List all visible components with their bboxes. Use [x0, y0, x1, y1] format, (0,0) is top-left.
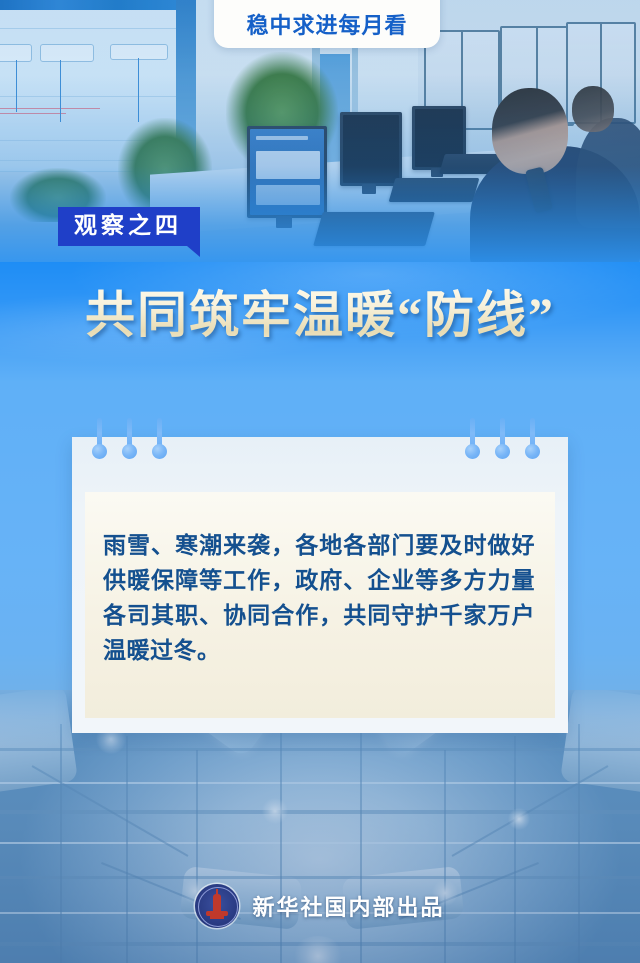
wall-display-header-bar [0, 0, 196, 10]
overhead-light [262, 798, 288, 824]
poster-root: 稳中求进每月看 观察之四 共同筑牢温暖“防线” 雨雪、寒潮来袭，各地各部门要及时… [0, 0, 640, 963]
section-tag-tail-icon [187, 246, 200, 257]
xinhua-logo-icon [195, 884, 239, 928]
overhead-light [508, 808, 530, 830]
top-banner-label: 稳中求进每月看 [246, 8, 407, 48]
footer: 新华社国内部出品 [0, 884, 640, 928]
section-tag: 观察之四 [58, 207, 200, 246]
second-person-head [572, 86, 614, 132]
top-banner: 稳中求进每月看 [214, 0, 440, 48]
computer-monitor [247, 126, 327, 218]
section-tag-label: 观察之四 [74, 213, 182, 239]
main-title: 共同筑牢温暖“防线” [0, 275, 640, 347]
section-tag-body: 观察之四 [58, 207, 200, 246]
main-title-text: 共同筑牢温暖“防线” [85, 275, 555, 347]
card-body-text: 雨雪、寒潮来袭，各地各部门要及时做好供暖保障等工作，政府、企业等多方力量各司其职… [103, 528, 535, 668]
computer-monitor [340, 112, 402, 186]
footer-label: 新华社国内部出品 [252, 890, 444, 922]
keyboard [313, 212, 435, 246]
operator-head [492, 88, 568, 174]
keyboard [389, 178, 480, 202]
